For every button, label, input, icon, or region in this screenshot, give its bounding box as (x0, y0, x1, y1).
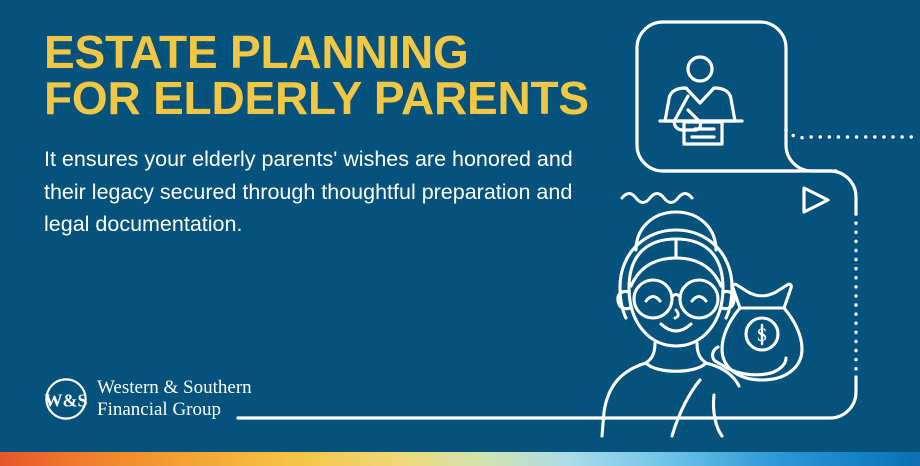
advisor-head-icon (688, 57, 712, 81)
headline-line-1: ESTATE PLANNING (44, 30, 604, 76)
collar-icon (646, 363, 706, 371)
advisor-document-icon (684, 122, 722, 144)
subcopy-text: It ensures your elderly parents' wishes … (44, 143, 574, 241)
ws-monogram-icon: W&S (44, 377, 88, 421)
dotted-connector-horizontal (786, 130, 920, 138)
smile-icon (661, 324, 691, 331)
sweep-line-right (663, 171, 856, 212)
brand-logo[interactable]: W&S Western & Southern Financial Group (44, 377, 252, 421)
eye-right-icon (692, 297, 706, 302)
squiggle-decoration (622, 194, 692, 203)
banner-root: S ESTATE PLANNING FOR ELDERLY PARENTS It… (0, 0, 920, 466)
shoulder-left-icon (602, 363, 646, 436)
bottom-gradient-bar (0, 452, 920, 466)
rounded-square-frame-left (637, 22, 800, 171)
nose-icon (675, 310, 678, 318)
advisor-document-lines-icon (692, 129, 714, 137)
sweep-line-bottom (238, 377, 856, 418)
brand-name-line-1: Western & Southern (97, 377, 252, 398)
hair-outline-icon (620, 230, 676, 318)
forearm-icon (713, 395, 722, 436)
advisor-signing-icon (660, 57, 742, 144)
brand-name: Western & Southern Financial Group (97, 377, 252, 421)
hair-outline-right-icon (676, 230, 732, 318)
elderly-woman-icon (602, 212, 786, 436)
brand-name-line-2: Financial Group (97, 399, 252, 421)
glasses-bridge-icon (672, 295, 680, 298)
page-title: ESTATE PLANNING FOR ELDERLY PARENTS (44, 30, 604, 121)
arm-icon (672, 380, 700, 436)
money-bag-tie-icon (733, 284, 792, 308)
glasses-left-lens-icon (634, 280, 672, 318)
glasses-right-lens-icon (680, 280, 718, 318)
play-triangle-icon[interactable] (804, 188, 828, 212)
ws-monogram-text: W&S (44, 391, 87, 411)
eye-left-icon (646, 297, 660, 302)
headline-line-2: FOR ELDERLY PARENTS (44, 76, 604, 122)
